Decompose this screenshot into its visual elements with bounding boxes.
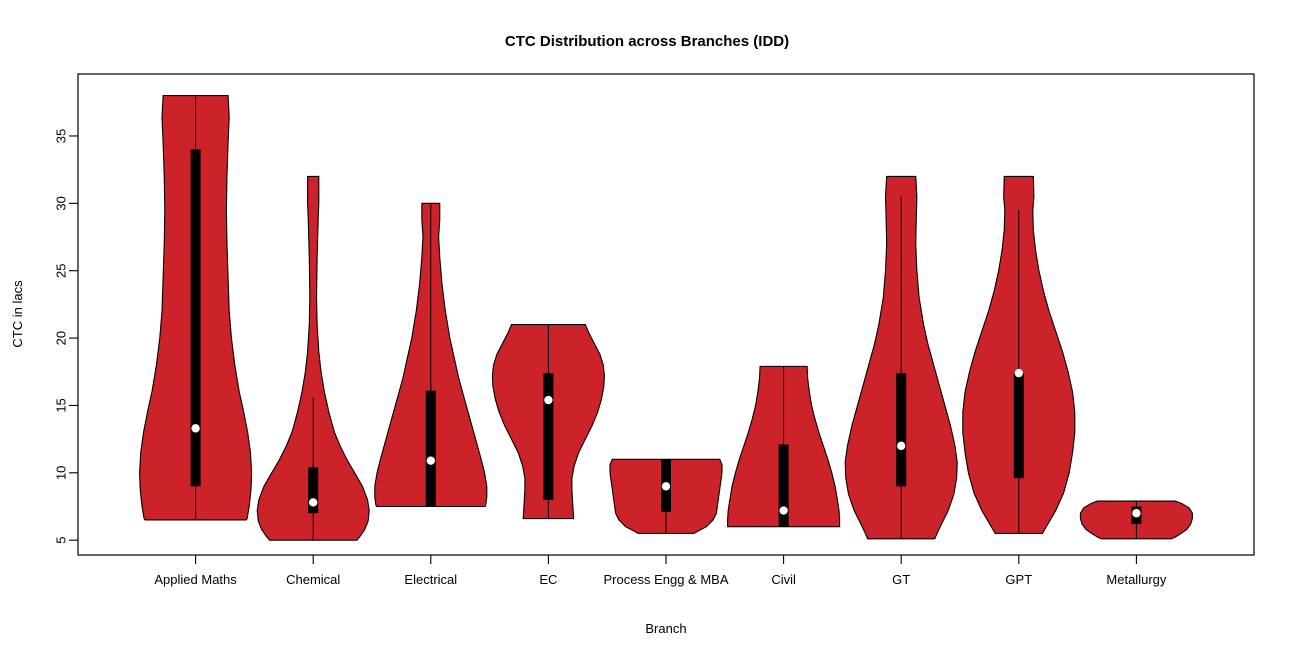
median-marker bbox=[544, 396, 552, 404]
iqr-box bbox=[896, 373, 906, 486]
x-axis-ticks: Applied MathsChemicalElectricalECProcess… bbox=[154, 555, 1166, 587]
median-marker bbox=[427, 456, 435, 464]
iqr-box bbox=[543, 373, 553, 500]
median-marker bbox=[191, 424, 199, 432]
x-tick-label-gpt: GPT bbox=[1005, 572, 1032, 587]
violin-civil[interactable] bbox=[728, 366, 840, 526]
violin-plot-canvas: CTC Distribution across Branches (IDD) 5… bbox=[0, 0, 1294, 653]
violin-chemical[interactable] bbox=[257, 176, 369, 540]
violin-gt[interactable] bbox=[845, 176, 957, 538]
y-tick-label: 10 bbox=[54, 466, 69, 480]
x-tick-label-civil: Civil bbox=[771, 572, 796, 587]
median-marker bbox=[662, 482, 670, 490]
median-marker bbox=[779, 506, 787, 514]
x-tick-label-ec: EC bbox=[539, 572, 557, 587]
violin-process-engg-mba[interactable] bbox=[610, 459, 722, 533]
y-axis-title: CTC in lacs bbox=[10, 280, 25, 348]
x-tick-label-electrical: Electrical bbox=[404, 572, 457, 587]
iqr-box bbox=[191, 149, 201, 486]
y-tick-label: 35 bbox=[54, 129, 69, 143]
x-tick-label-process-engg-mba: Process Engg & MBA bbox=[604, 572, 729, 587]
violin-metallurgy[interactable] bbox=[1080, 501, 1192, 539]
median-marker bbox=[897, 442, 905, 450]
y-axis-ticks: 5101520253035 bbox=[54, 129, 79, 544]
violin-series-group bbox=[140, 96, 1193, 541]
violin-ec[interactable] bbox=[492, 325, 604, 519]
x-tick-label-gt: GT bbox=[892, 572, 910, 587]
x-axis-title: Branch bbox=[645, 621, 686, 636]
x-tick-label-applied-maths: Applied Maths bbox=[154, 572, 237, 587]
violin-gpt[interactable] bbox=[963, 176, 1075, 533]
violin-applied-maths[interactable] bbox=[140, 96, 252, 520]
y-tick-label: 5 bbox=[54, 537, 69, 544]
median-marker bbox=[1015, 369, 1023, 377]
y-tick-label: 20 bbox=[54, 331, 69, 345]
iqr-box bbox=[426, 391, 436, 507]
median-marker bbox=[1132, 509, 1140, 517]
violin-electrical[interactable] bbox=[375, 203, 487, 506]
page-title: CTC Distribution across Branches (IDD) bbox=[505, 33, 789, 50]
x-tick-label-chemical: Chemical bbox=[286, 572, 340, 587]
iqr-box bbox=[1014, 373, 1024, 478]
median-marker bbox=[309, 498, 317, 506]
y-tick-label: 30 bbox=[54, 196, 69, 210]
x-tick-label-metallurgy: Metallurgy bbox=[1106, 572, 1166, 587]
y-tick-label: 25 bbox=[54, 263, 69, 277]
y-tick-label: 15 bbox=[54, 398, 69, 412]
